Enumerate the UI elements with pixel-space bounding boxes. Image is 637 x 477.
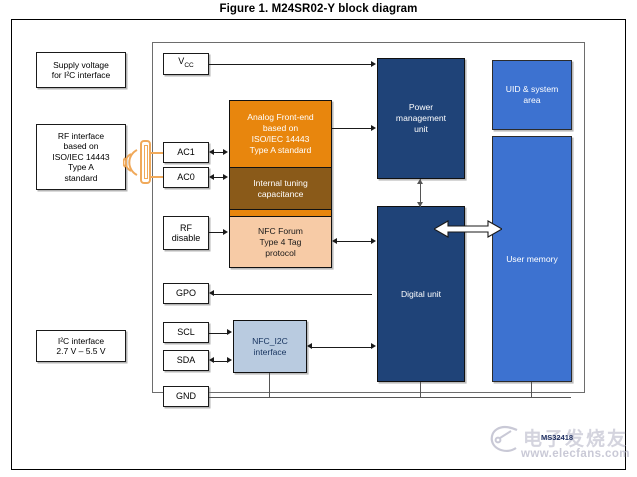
block-uid-system-area: UID & system area [492,60,572,130]
block-diagram-figure: Figure 1. M24SR02-Y block diagram Supply… [0,0,637,477]
arrowhead-digital-to-nfc [332,238,337,244]
i2c-interface-label-box: I²C interface 2.7 V – 5.5 V [36,330,126,362]
line-scl-to-i2c [209,333,228,334]
arrowhead-ac0-to-tuning [223,174,228,180]
block-analog-front-end: Analog Front-end based on ISO/IEC 14443 … [229,100,332,168]
arrowhead-scl-to-i2c [227,329,232,335]
figure-title: Figure 1. M24SR02-Y block diagram [0,3,637,15]
nfc-i2c-line-2: interface [254,347,287,357]
pin-ac0-label: AC0 [175,172,197,183]
pin-rf-disable-line-2: disable [172,233,201,243]
antenna-core-icon [144,145,148,179]
arrowhead-pmu-to-digital [417,202,423,207]
afe-line-1: Analog Front-end [247,112,313,122]
bus-arrow-digital-to-user-memory [434,218,502,240]
nfc-line-3: protocol [265,248,296,258]
block-nfc-i2c-interface: NFC_I2C interface [233,320,307,373]
pin-sda: SDA [163,350,209,371]
pmu-line-3: unit [414,124,428,134]
arrowhead-i2c-to-sda [209,357,214,363]
rf-interface-line-4: Type A [68,162,94,172]
pin-sda-label: SDA [175,355,198,366]
i2c-interface-line-2: 2.7 V – 5.5 V [56,346,105,356]
arrowhead-digital-to-gpo [209,290,214,296]
arrowhead-nfc-to-digital [371,238,376,244]
arrowhead-rfdisable-to-nfc [223,229,228,235]
nfc-i2c-line-1: NFC_I2C [252,336,288,346]
supply-voltage-line-2: for I²C interface [52,70,111,80]
line-i2c-to-digital [310,347,372,348]
afe-line-2: based on [263,123,298,133]
rf-interface-line-3: ISO/IEC 14443 [52,152,109,162]
antenna-lead-ac0 [151,176,163,178]
supply-voltage-line-1: Supply voltage [53,60,109,70]
user-memory-label: User memory [506,254,558,265]
line-gnd-bus [209,397,571,398]
line-gnd-to-i2c [269,373,270,397]
nfc-line-1: NFC Forum [258,226,303,236]
pmu-line-2: management [396,113,446,123]
arrowhead-i2c-to-digital [371,343,376,349]
block-user-memory: User memory [492,136,572,382]
line-gnd-to-digital [420,382,421,397]
arrowhead-tuning-to-ac0 [209,174,214,180]
uid-line-2: area [523,95,540,105]
pin-ac1-label: AC1 [175,147,197,158]
antenna-lead-ac1 [151,152,163,154]
tuning-line-2: capacitance [258,189,304,199]
arrowhead-digital-to-i2c [307,343,312,349]
line-gpo-to-digital [212,294,372,295]
rf-interface-line-1: RF interface [58,131,104,141]
arrowhead-afe-to-ac1 [209,149,214,155]
pin-rf-disable-line-1: RF [180,223,192,233]
pin-vcc: VCC [163,53,209,75]
line-nfc-to-digital [335,241,372,242]
supply-voltage-label-box: Supply voltage for I²C interface [36,52,126,88]
rf-interface-label-box: RF interface based on ISO/IEC 14443 Type… [36,124,126,190]
i2c-interface-line-1: I²C interface [58,336,104,346]
pin-rf-disable: RF disable [163,216,209,250]
pin-ac1: AC1 [163,142,209,163]
pin-gpo-label: GPO [174,288,198,299]
pin-gnd: GND [163,386,209,407]
block-power-management-unit: Power management unit [377,58,465,179]
rf-interface-line-2: based on [64,141,99,151]
line-sda-to-i2c [212,361,228,362]
digital-unit-label: Digital unit [401,289,441,300]
arrowhead-sda-to-i2c [227,357,232,363]
afe-line-4: Type A standard [250,145,312,155]
figure-id-code: MS32418 [541,433,573,442]
pin-scl-label: SCL [175,327,197,338]
rf-interface-line-5: standard [64,173,97,183]
nfc-line-2: Type 4 Tag [260,237,302,247]
arrowhead-vcc-to-pmu [371,61,376,67]
line-vcc-to-pmu [209,64,372,65]
afe-line-3: ISO/IEC 14443 [252,134,310,144]
line-afe-to-pmu [332,128,372,129]
block-nfc-forum-type4-tag: NFC Forum Type 4 Tag protocol [229,216,332,268]
arrowhead-digital-to-pmu [417,179,423,184]
pin-scl: SCL [163,322,209,343]
arrowhead-afe-to-pmu [371,125,376,131]
pin-ac0: AC0 [163,167,209,188]
line-gnd-to-user-memory [531,382,532,397]
pin-gnd-label: GND [174,391,198,402]
uid-line-1: UID & system [506,84,559,94]
pin-gpo: GPO [163,283,209,304]
arrowhead-ac1-to-afe [223,149,228,155]
rf-wave-icon [123,146,141,179]
block-internal-tuning-capacitance: Internal tuning capacitance [229,168,332,210]
tuning-line-1: Internal tuning [253,178,307,188]
pmu-line-1: Power [409,102,433,112]
